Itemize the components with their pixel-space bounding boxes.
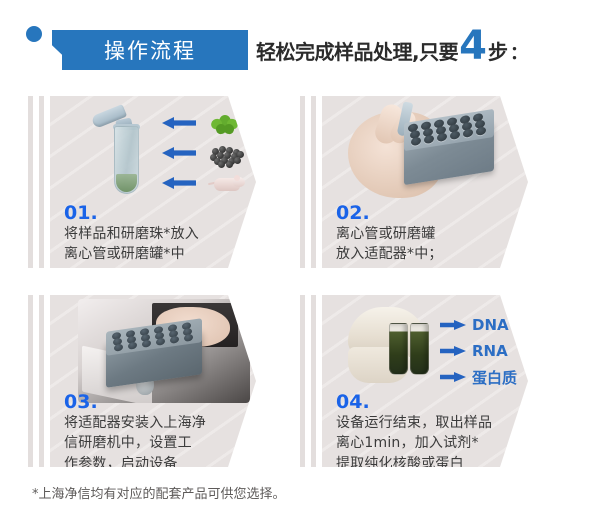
panel-body: 01. 将样品和研磨珠*放入 离心管或研磨罐*中 xyxy=(50,96,256,268)
sample-row-plant xyxy=(162,112,256,134)
gloved-hand-tubes-photo xyxy=(346,301,454,393)
arrow-right-icon xyxy=(440,320,466,330)
panel-body: 02. 离心管或研磨罐 放入适配器*中； xyxy=(322,96,528,268)
mouse-sample-icon xyxy=(208,172,248,194)
panel-left-bars xyxy=(300,96,322,268)
tagline-colon: ： xyxy=(510,39,528,65)
step-caption-02: 离心管或研磨罐 放入适配器*中； xyxy=(336,224,443,265)
output-label-protein: 蛋白质 xyxy=(472,367,517,388)
sample-arrows-group xyxy=(162,112,256,196)
panel-bar-inner xyxy=(311,295,316,467)
sample-row-animal xyxy=(162,172,256,194)
step-number-01: 01. xyxy=(64,202,98,224)
panel-bar-outer xyxy=(28,96,33,268)
header-dot-icon xyxy=(26,26,42,42)
step-caption-01: 将样品和研磨珠*放入 离心管或研磨罐*中 xyxy=(64,224,199,265)
arrow-left-icon xyxy=(162,117,196,129)
output-list: DNA RNA 蛋白质 xyxy=(440,315,528,393)
arrow-right-icon xyxy=(440,346,466,356)
output-row-rna: RNA xyxy=(440,341,528,361)
output-row-dna: DNA xyxy=(440,315,528,335)
step-caption-04: 设备运行结束，取出样品 离心1min，加入试剂* 提取纯化核酸或蛋白 xyxy=(336,413,492,467)
footnote: *上海净信均有对应的配套产品可供您选择。 xyxy=(32,483,286,502)
panel-left-bars xyxy=(300,295,322,467)
step-caption-03: 将适配器安装入上海净 信研磨机中，设置工 作参数，启动设备 xyxy=(64,413,206,467)
panel-bar-outer xyxy=(300,295,305,467)
arrow-left-icon xyxy=(162,177,196,189)
grinder-machine-photo xyxy=(78,299,250,403)
step-number-03: 03. xyxy=(64,391,98,413)
panel-body: DNA RNA 蛋白质 04. 设备运行结束，取出样品 离心1min，加入试剂*… xyxy=(322,295,528,467)
panel-left-bars xyxy=(28,295,50,467)
arrow-left-icon xyxy=(162,147,196,159)
output-label-dna: DNA xyxy=(472,316,509,334)
centrifuge-tube-icon xyxy=(90,108,150,200)
step-panel-04: DNA RNA 蛋白质 04. 设备运行结束，取出样品 离心1min，加入试剂*… xyxy=(300,295,528,467)
panel-left-bars xyxy=(28,96,50,268)
tagline-part2: 步 xyxy=(488,36,508,65)
output-label-rna: RNA xyxy=(472,342,508,360)
grinding-beads-icon xyxy=(208,142,248,164)
step-panel-02: 02. 离心管或研磨罐 放入适配器*中； xyxy=(300,96,528,268)
panel-bar-inner xyxy=(311,96,316,268)
leaf-sample-icon xyxy=(208,112,248,134)
header-tagline: 轻松完成样品处理,只要 4 步 ： xyxy=(256,26,528,74)
infographic-page: 操作流程 轻松完成样品处理,只要 4 步 ： xyxy=(0,0,600,526)
step-number-04: 04. xyxy=(336,391,370,413)
step-panel-01: 01. 将样品和研磨珠*放入 离心管或研磨罐*中 xyxy=(28,96,256,268)
header: 操作流程 轻松完成样品处理,只要 4 步 ： xyxy=(0,0,600,88)
tagline-step-count: 4 xyxy=(459,26,487,66)
panel-bar-outer xyxy=(28,295,33,467)
tagline-part1: 轻松完成样品处理,只要 xyxy=(256,36,458,65)
step-panel-03: 03. 将适配器安装入上海净 信研磨机中，设置工 作参数，启动设备 xyxy=(28,295,256,467)
panel-body: 03. 将适配器安装入上海净 信研磨机中，设置工 作参数，启动设备 xyxy=(50,295,256,467)
header-banner-label: 操作流程 xyxy=(52,30,248,70)
sample-row-beads xyxy=(162,142,256,164)
hand-holding-adapter-photo xyxy=(348,100,508,206)
output-row-protein: 蛋白质 xyxy=(440,367,528,387)
panel-bar-outer xyxy=(300,96,305,268)
panel-bar-inner xyxy=(39,295,44,467)
step-number-02: 02. xyxy=(336,202,370,224)
arrow-right-icon xyxy=(440,372,466,382)
panel-bar-inner xyxy=(39,96,44,268)
